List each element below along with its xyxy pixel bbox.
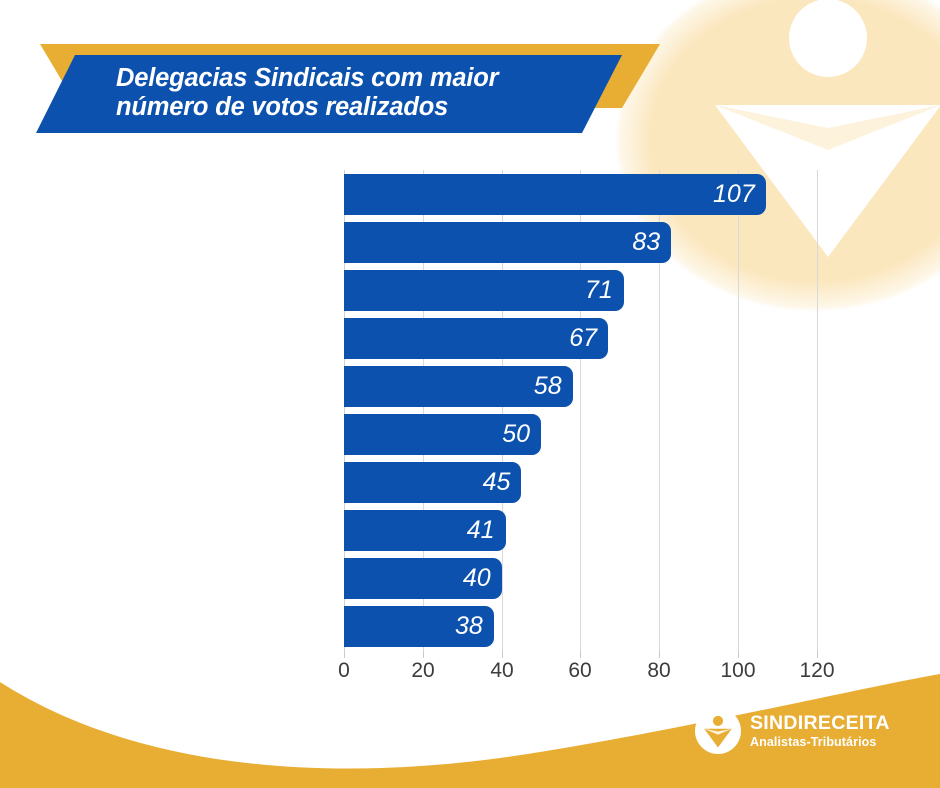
bar-chart: 0 20 40 60 80 100 120 DS-Brasília/DF107D… xyxy=(0,170,940,670)
bar: 58 xyxy=(344,366,573,407)
bar-value-label: 107 xyxy=(713,174,755,215)
bar: 83 xyxy=(344,222,671,263)
tick-mark-20 xyxy=(423,651,424,658)
bar-value-label: 71 xyxy=(585,270,613,311)
tick-mark-60 xyxy=(580,651,581,658)
bar: 107 xyxy=(344,174,766,215)
bar-value-label: 58 xyxy=(534,366,562,407)
sindireceita-person-triangle-icon xyxy=(695,708,741,754)
page-title: Delegacias Sindicais com maior número de… xyxy=(116,64,556,122)
bar: 71 xyxy=(344,270,624,311)
bar-value-label: 38 xyxy=(455,606,483,647)
tick-mark-100 xyxy=(738,651,739,658)
bar: 45 xyxy=(344,462,521,503)
bar: 50 xyxy=(344,414,541,455)
bar: 67 xyxy=(344,318,608,359)
bar-value-label: 83 xyxy=(632,222,660,263)
bar-value-label: 67 xyxy=(569,318,597,359)
sindireceita-logo: SINDIRECEITA Analistas-Tributários xyxy=(695,708,890,754)
tick-mark-120 xyxy=(817,651,818,658)
poster-canvas: Delegacias Sindicais com maior número de… xyxy=(0,0,940,788)
tick-mark-0 xyxy=(344,651,345,658)
bar: 38 xyxy=(344,606,494,647)
bar-value-label: 41 xyxy=(467,510,495,551)
tick-mark-40 xyxy=(502,651,503,658)
brand-name: SINDIRECEITA xyxy=(750,714,890,734)
bar-value-label: 45 xyxy=(483,462,511,503)
bar: 40 xyxy=(344,558,502,599)
tick-mark-80 xyxy=(659,651,660,658)
bar-rows: DS-Brasília/DF107DS-Recife/PE83DS-Fortal… xyxy=(0,170,940,651)
bar: 41 xyxy=(344,510,506,551)
bar-value-label: 40 xyxy=(463,558,491,599)
brand-subtitle: Analistas-Tributários xyxy=(750,736,890,749)
title-banner: Delegacias Sindicais com maior número de… xyxy=(0,0,940,160)
bar-value-label: 50 xyxy=(502,414,530,455)
